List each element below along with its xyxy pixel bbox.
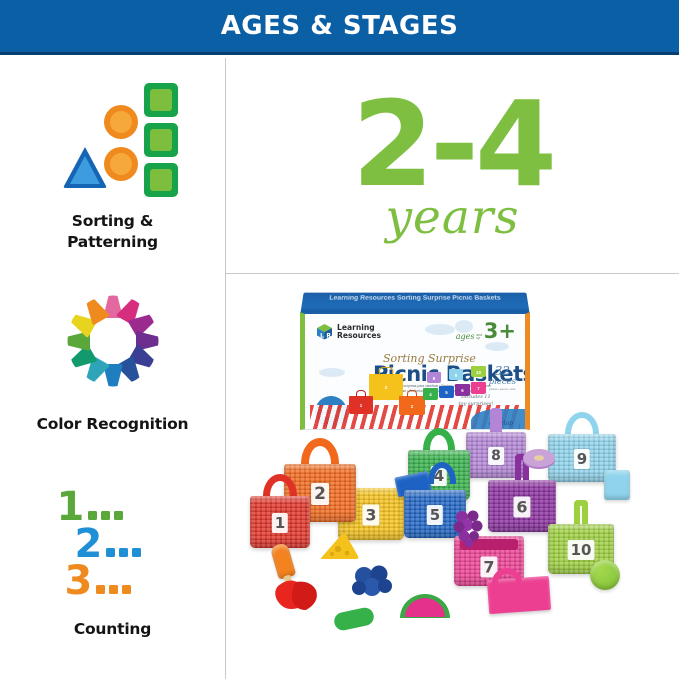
skill-label-line1: Color Recognition xyxy=(37,414,189,435)
cloud-decor xyxy=(425,324,455,335)
box-ages-word: ages xyxy=(456,333,475,341)
product-photo-panel: Learning Resources Sorting Surprise Picn… xyxy=(226,274,679,679)
green-square-icon xyxy=(144,163,178,197)
skill-label: Sorting & Patterning xyxy=(67,211,158,253)
basket-number: 1 xyxy=(272,513,288,533)
mini-basket-1: 1 xyxy=(349,396,373,414)
shapes-sorting-icon xyxy=(48,70,178,205)
green-apple-piece xyxy=(590,560,620,590)
basket-number: 5 xyxy=(427,505,443,525)
basket-number: 8 xyxy=(488,447,504,465)
mini-basket-2: 2 xyxy=(399,396,425,415)
skill-label-line1: Counting xyxy=(74,619,151,640)
skill-color-recognition: Color Recognition xyxy=(0,273,225,435)
basket-lid xyxy=(604,470,630,500)
basket-number: 3 xyxy=(362,505,379,526)
brand-logo: L R Learning Resources xyxy=(315,322,381,341)
count-digit: 3 xyxy=(65,564,93,598)
basket-number: 9 xyxy=(574,449,590,469)
box-pieces-tiny: piezas • pieces • teile xyxy=(489,387,516,391)
age-range-panel: 2-4 years xyxy=(226,58,679,273)
box-pieces-word: pieces xyxy=(489,378,516,387)
svg-text:L: L xyxy=(320,332,324,339)
count-dots xyxy=(106,548,141,561)
logo-cube-icon: L R xyxy=(315,322,334,341)
box-top-text: Learning Resources Sorting Surprise Picn… xyxy=(310,295,520,301)
green-square-icon xyxy=(144,83,178,117)
skill-label: Color Recognition xyxy=(37,414,189,435)
basket-purple-6: 6 xyxy=(488,480,556,532)
cucumber-piece xyxy=(333,606,376,632)
blue-triangle-icon xyxy=(62,145,108,189)
strawberries-piece xyxy=(270,574,322,614)
brand-line-2: Resources xyxy=(337,332,381,340)
page-title: AGES & STAGES xyxy=(221,11,459,41)
mini-basket-4: 4 xyxy=(423,388,438,400)
skill-label-line1: Sorting & xyxy=(67,211,158,232)
mini-basket-10: 10 xyxy=(471,366,486,377)
basket-number: 2 xyxy=(311,483,329,505)
basket-red-1: 1 xyxy=(250,496,310,548)
watermelon-slice-piece xyxy=(398,592,452,622)
count-row-3: 3 xyxy=(65,564,132,598)
cloud-decor xyxy=(319,368,345,377)
box-ages-number: 3+ xyxy=(484,323,516,341)
skill-label: Counting xyxy=(74,619,151,640)
count-dots xyxy=(96,585,131,598)
mini-basket-3: 3 xyxy=(369,374,403,400)
box-ages-small: and up xyxy=(476,334,481,341)
donut-piece xyxy=(522,448,556,470)
mini-basket-8: 8 xyxy=(427,372,441,383)
color-wheel-icon xyxy=(61,273,165,408)
box-pieces-count: 32 pieces piezas • pieces • teile xyxy=(489,364,516,391)
count-row-2: 2 xyxy=(75,527,142,561)
orange-circle-icon xyxy=(104,105,138,139)
counting-graphic: 1 2 3 xyxy=(53,490,173,602)
basket-pink-lid xyxy=(488,570,550,612)
skill-sorting-patterning: Sorting & Patterning xyxy=(0,70,225,253)
basket-number: 10 xyxy=(568,540,595,560)
basket-number: 6 xyxy=(513,497,530,518)
box-pieces-number: 32 xyxy=(489,364,516,378)
skills-column: Sorting & Patterning Color Recognition 1 xyxy=(0,58,225,679)
svg-text:R: R xyxy=(326,332,331,339)
page-header-bar: AGES & STAGES xyxy=(0,0,679,55)
basket-lightblue-9: 9 xyxy=(548,434,616,482)
cheese-wedge-piece xyxy=(318,530,360,562)
skill-label-line2: Patterning xyxy=(67,232,158,253)
grapes-piece xyxy=(452,508,484,548)
box-ages-badge: ages and up 3+ xyxy=(456,323,516,341)
box-surprise-note: Includes 11 toy surprises! xyxy=(447,394,505,407)
count-digit: 1 xyxy=(57,490,85,524)
orange-circle-icon xyxy=(104,147,138,181)
cloud-decor xyxy=(485,342,509,351)
age-range-value: 2-4 xyxy=(352,90,553,199)
mini-basket-7: 7 xyxy=(471,382,486,394)
color-wheel-graphic xyxy=(61,289,165,393)
skill-counting: 1 2 3 C xyxy=(0,478,225,640)
count-row-1: 1 xyxy=(57,490,124,524)
green-square-icon xyxy=(144,123,178,157)
count-digit: 2 xyxy=(75,527,103,561)
brand-name: Learning Resources xyxy=(337,324,381,340)
mini-basket-9: 9 xyxy=(449,369,463,380)
age-range-unit: years xyxy=(386,194,520,241)
numbers-counting-icon: 1 2 3 xyxy=(53,478,173,613)
blueberries-piece xyxy=(352,564,392,598)
